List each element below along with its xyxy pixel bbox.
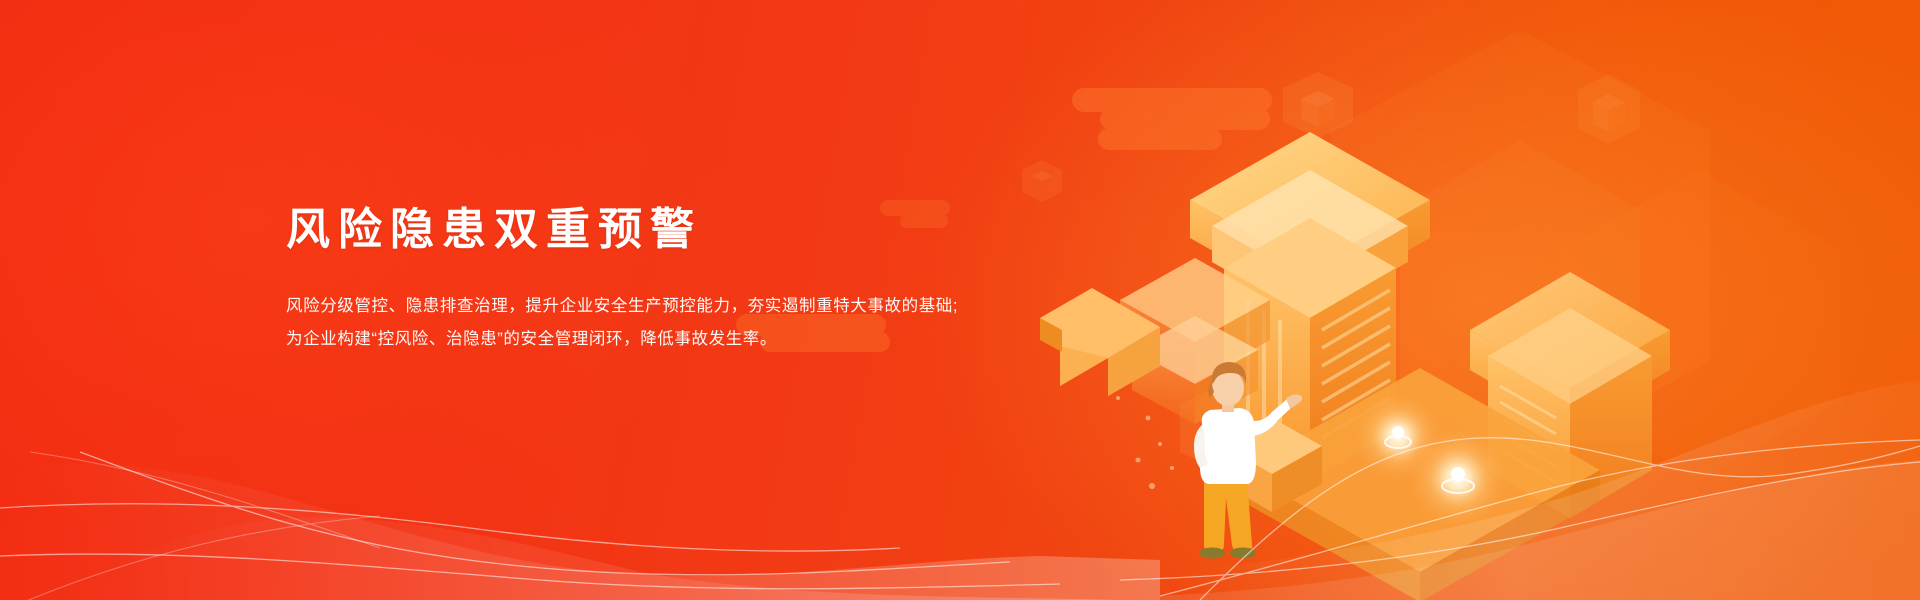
banner-subtitle: 风险分级管控、隐患排查治理，提升企业安全生产预控能力，夯实遏制重特大事故的基础;… [286, 290, 1106, 356]
hero-banner: 风险隐患双重预警 风险分级管控、隐患排查治理，提升企业安全生产预控能力，夯实遏制… [0, 0, 1920, 600]
subtitle-line-1: 风险分级管控、隐患排查治理，提升企业安全生产预控能力，夯实遏制重特大事故的基础; [286, 290, 1106, 323]
banner-copy: 风险隐患双重预警 风险分级管控、隐患排查治理，提升企业安全生产预控能力，夯实遏制… [286, 208, 1106, 356]
page-title: 风险隐患双重预警 [286, 208, 1106, 252]
subtitle-line-2: 为企业构建“控风险、治隐患”的安全管理闭环，降低事故发生率。 [286, 323, 1106, 356]
